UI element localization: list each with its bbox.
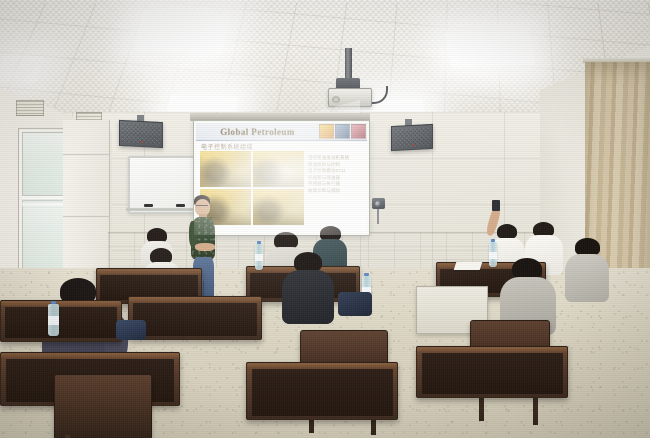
- projector-pole: [345, 48, 352, 81]
- presenter-glasses-icon: [196, 205, 208, 208]
- attendee-shirt: [565, 254, 609, 302]
- door-frost-band: [22, 196, 68, 208]
- slide-photo-1: [200, 151, 251, 187]
- vent-grille-left: [16, 100, 44, 116]
- slide-bullet-3: 电子控制模块ECU: [308, 168, 364, 173]
- desk-row0-right: [416, 346, 568, 398]
- slide-bullet-list: 电控柴油发动机系统 燃油喷射与控制 电子控制模块ECU 机械泵与喷油器 传感器与…: [308, 155, 364, 193]
- chair-front-left[interactable]: [54, 374, 152, 438]
- presenter-forearm: [195, 243, 215, 251]
- desk-row0-center: [246, 362, 398, 420]
- attendee-shirt: [282, 270, 334, 324]
- attendee-hair: [294, 252, 322, 272]
- slide-bullet-4: 机械泵与喷油器: [308, 175, 364, 180]
- attendee-hair: [497, 224, 517, 239]
- banner-thumb-2: [335, 124, 350, 139]
- speaker-right: [391, 124, 433, 151]
- slide-bullet-5: 传感器与执行器: [308, 181, 364, 186]
- desk-row1-left: [0, 300, 122, 342]
- attendee-hair: [512, 258, 542, 279]
- slide-title: Global Petroleum: [196, 127, 319, 137]
- banner-thumb-1: [319, 124, 334, 139]
- ceiling-light-1: [134, 10, 231, 53]
- water-bottle-3: [48, 304, 59, 336]
- backpack-2: [116, 320, 146, 340]
- projector-lens-icon: [332, 96, 340, 103]
- slide-photo-2: [253, 151, 304, 187]
- desk-row1-center: [128, 296, 262, 340]
- water-bottle-1: [255, 244, 263, 270]
- slide-bullet-2: 燃油喷射与控制: [308, 162, 364, 167]
- slide-bullet-1: 电控柴油发动机系统: [308, 155, 364, 160]
- water-bottle-2: [489, 242, 497, 267]
- camera-mount-arm: [377, 208, 379, 224]
- classroom-photo: Global Petroleum 电子控制系统组成 CAT 电控柴油发动机系统 …: [0, 0, 650, 438]
- speaker-left: [119, 120, 163, 148]
- slide-subtitle: 电子控制系统组成: [201, 142, 253, 151]
- camera-lens-icon: [375, 201, 381, 207]
- banner-thumb-3: [351, 124, 366, 139]
- wall-cabinet: [63, 120, 110, 290]
- whiteboard-marker-1[interactable]: [144, 204, 153, 207]
- slide-banner: Global Petroleum: [196, 123, 367, 141]
- backpack-1: [338, 292, 372, 316]
- ceiling-light-3: [445, 31, 535, 68]
- attendee-phone: [492, 200, 500, 211]
- slide-photo-4: [253, 189, 304, 225]
- presenter-arm-back: [189, 221, 197, 247]
- paper-sheet-1: [454, 262, 483, 270]
- slide-bullet-6: 故障诊断与排除: [308, 188, 364, 193]
